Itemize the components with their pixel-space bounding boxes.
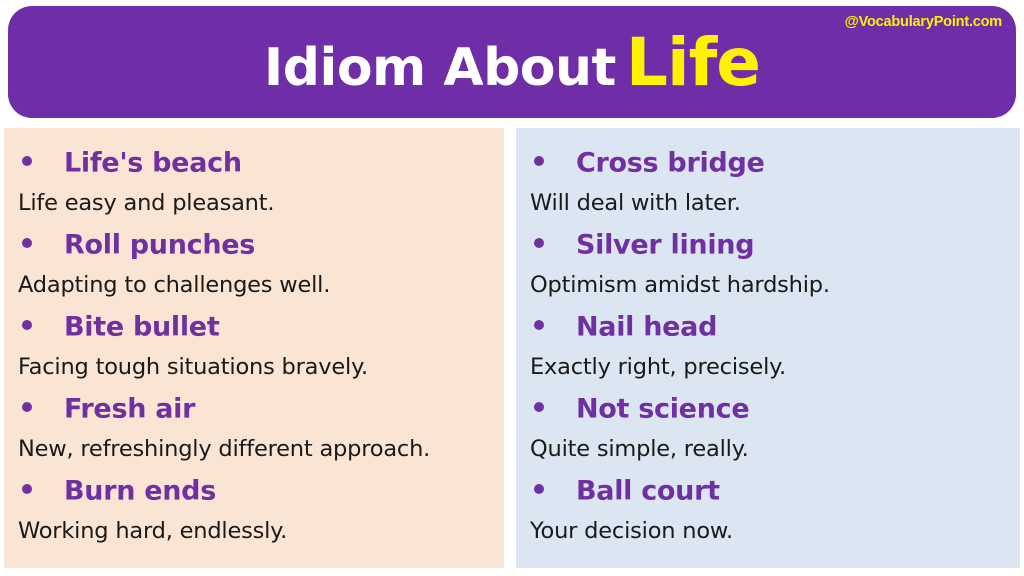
page-title-main: Idiom About bbox=[264, 38, 616, 98]
idiom-term: Nail head bbox=[576, 311, 717, 342]
idiom-term: Ball court bbox=[576, 475, 720, 506]
bullet-dot-icon bbox=[22, 484, 32, 494]
idiom-entry-header: Burn ends bbox=[14, 470, 494, 511]
idiom-entry-header: Not science bbox=[526, 388, 1010, 429]
slide-canvas: @VocabularyPoint.com Idiom AboutLife Lif… bbox=[0, 0, 1024, 576]
bullet-dot-icon bbox=[534, 320, 544, 330]
idiom-entry: Bite bulletFacing tough situations brave… bbox=[14, 306, 494, 388]
idiom-entry-header: Cross bridge bbox=[526, 142, 1010, 183]
idiom-entry: Cross bridgeWill deal with later. bbox=[526, 142, 1010, 224]
idiom-definition: Working hard, endlessly. bbox=[14, 511, 494, 552]
idiom-entry: Nail headExactly right, precisely. bbox=[526, 306, 1010, 388]
idiom-entry-header: Silver lining bbox=[526, 224, 1010, 265]
idiom-entry: Ball courtYour decision now. bbox=[526, 470, 1010, 552]
bullet-dot-icon bbox=[22, 238, 32, 248]
page-title: Idiom AboutLife bbox=[8, 30, 1016, 96]
idiom-term: Silver lining bbox=[576, 229, 754, 260]
bullet-dot-icon bbox=[534, 484, 544, 494]
idiom-entry: Roll punchesAdapting to challenges well. bbox=[14, 224, 494, 306]
idiom-definition: New, refreshingly different approach. bbox=[14, 429, 494, 470]
idiom-entry: Life's beachLife easy and pleasant. bbox=[14, 142, 494, 224]
idiom-term: Fresh air bbox=[64, 393, 195, 424]
page-title-accent: Life bbox=[626, 24, 760, 101]
idiom-entry: Fresh airNew, refreshingly different app… bbox=[14, 388, 494, 470]
idiom-entry: Burn endsWorking hard, endlessly. bbox=[14, 470, 494, 552]
idiom-term: Cross bridge bbox=[576, 147, 765, 178]
idiom-term: Life's beach bbox=[64, 147, 242, 178]
idiom-definition: Facing tough situations bravely. bbox=[14, 347, 494, 388]
idiom-entry-header: Roll punches bbox=[14, 224, 494, 265]
bullet-dot-icon bbox=[534, 156, 544, 166]
bullet-dot-icon bbox=[22, 320, 32, 330]
idiom-entry-header: Bite bullet bbox=[14, 306, 494, 347]
idiom-entry-header: Nail head bbox=[526, 306, 1010, 347]
bullet-dot-icon bbox=[534, 402, 544, 412]
idiom-term: Not science bbox=[576, 393, 749, 424]
bullet-dot-icon bbox=[22, 402, 32, 412]
header-banner: @VocabularyPoint.com Idiom AboutLife bbox=[8, 6, 1016, 118]
idiom-definition: Your decision now. bbox=[526, 511, 1010, 552]
bullet-dot-icon bbox=[534, 238, 544, 248]
bullet-dot-icon bbox=[22, 156, 32, 166]
watermark-credit: @VocabularyPoint.com bbox=[845, 14, 1002, 30]
idiom-definition: Adapting to challenges well. bbox=[14, 265, 494, 306]
idiom-entry-header: Ball court bbox=[526, 470, 1010, 511]
right-column-panel: Cross bridgeWill deal with later.Silver … bbox=[516, 128, 1020, 568]
idiom-term: Bite bullet bbox=[64, 311, 219, 342]
idiom-definition: Will deal with later. bbox=[526, 183, 1010, 224]
idiom-term: Burn ends bbox=[64, 475, 216, 506]
idiom-definition: Exactly right, precisely. bbox=[526, 347, 1010, 388]
idiom-definition: Life easy and pleasant. bbox=[14, 183, 494, 224]
idiom-term: Roll punches bbox=[64, 229, 255, 260]
left-column-panel: Life's beachLife easy and pleasant.Roll … bbox=[4, 128, 504, 568]
idiom-entry: Not scienceQuite simple, really. bbox=[526, 388, 1010, 470]
idiom-entry-header: Life's beach bbox=[14, 142, 494, 183]
idiom-entry-header: Fresh air bbox=[14, 388, 494, 429]
idiom-definition: Quite simple, really. bbox=[526, 429, 1010, 470]
idiom-entry: Silver liningOptimism amidst hardship. bbox=[526, 224, 1010, 306]
idiom-definition: Optimism amidst hardship. bbox=[526, 265, 1010, 306]
